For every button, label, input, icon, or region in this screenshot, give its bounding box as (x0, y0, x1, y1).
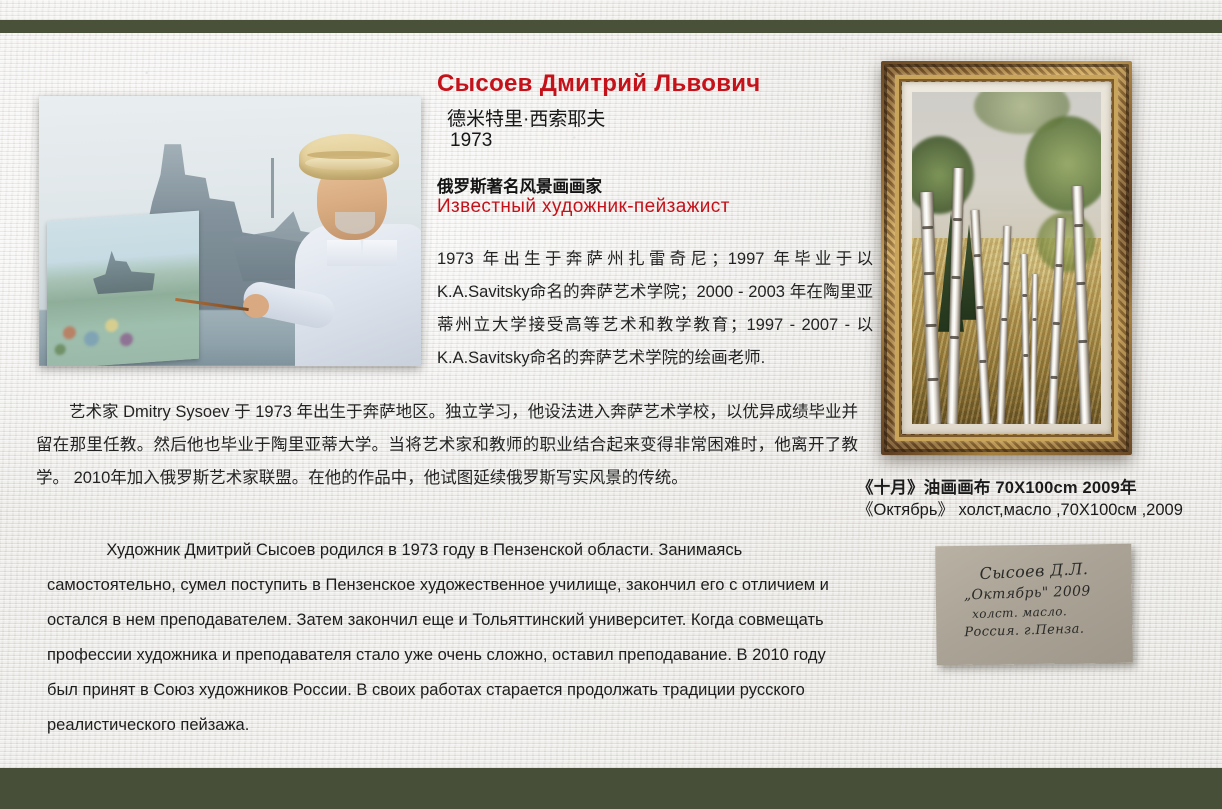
painting-caption: 《十月》油画画布 70X100cm 2009年 《Октябрь》 холст,… (857, 477, 1222, 521)
painting-foliage-midright (1037, 212, 1095, 272)
photo-easel-canvas (47, 211, 199, 366)
top-accent-bar (0, 20, 1222, 33)
handwritten-label-card: Сысоев Д.Л. „Октябрь" 2009 холст. масло.… (935, 544, 1132, 665)
label-medium: холст. масло. (972, 603, 1118, 621)
painting-october-birch-forest (912, 92, 1101, 424)
painting-caption-chinese: 《十月》油画画布 70X100cm 2009年 (857, 477, 1222, 499)
label-title-year: „Октябрь" 2009 (964, 582, 1118, 603)
artist-name-russian: Сысоев Дмитрий Львович (437, 70, 761, 98)
photo-artist-hand (243, 294, 269, 318)
birth-year: 1973 (450, 130, 492, 152)
poster-page: Сысоев Дмитрий Львович 德米特里·西索耶夫 1973 俄罗… (0, 0, 1222, 809)
painting-frame (881, 61, 1132, 455)
photo-mast (271, 158, 274, 218)
artist-name-chinese: 德米特里·西索耶夫 (447, 104, 605, 131)
bio-russian-body: Художник Дмитрий Сысоев родился в 1973 г… (47, 533, 852, 743)
painting-caption-russian: 《Октябрь》 холст,масло ,70X100см ,2009 (857, 499, 1222, 521)
bottom-accent-bar (0, 768, 1222, 809)
subtitle-chinese: 俄罗斯著名风景画画家 (437, 173, 602, 197)
label-location: Россия. г.Пенза. (964, 621, 1118, 641)
label-artist-signature: Сысоев Д.Л. (979, 558, 1118, 583)
bio-chinese-summary: 1973 年出生于奔萨州扎雷奇尼；1997 年毕业于以K.A.Savitsky命… (437, 243, 873, 375)
artist-photo (39, 96, 421, 366)
photo-artist-beard (335, 212, 375, 234)
subtitle-russian: Известный художник-пейзажист (437, 196, 730, 218)
bio-chinese-body: 艺术家 Dmitry Sysoev 于 1973 年出生于奔萨地区。独立学习，他… (36, 396, 858, 495)
photo-hat-band (307, 151, 391, 159)
